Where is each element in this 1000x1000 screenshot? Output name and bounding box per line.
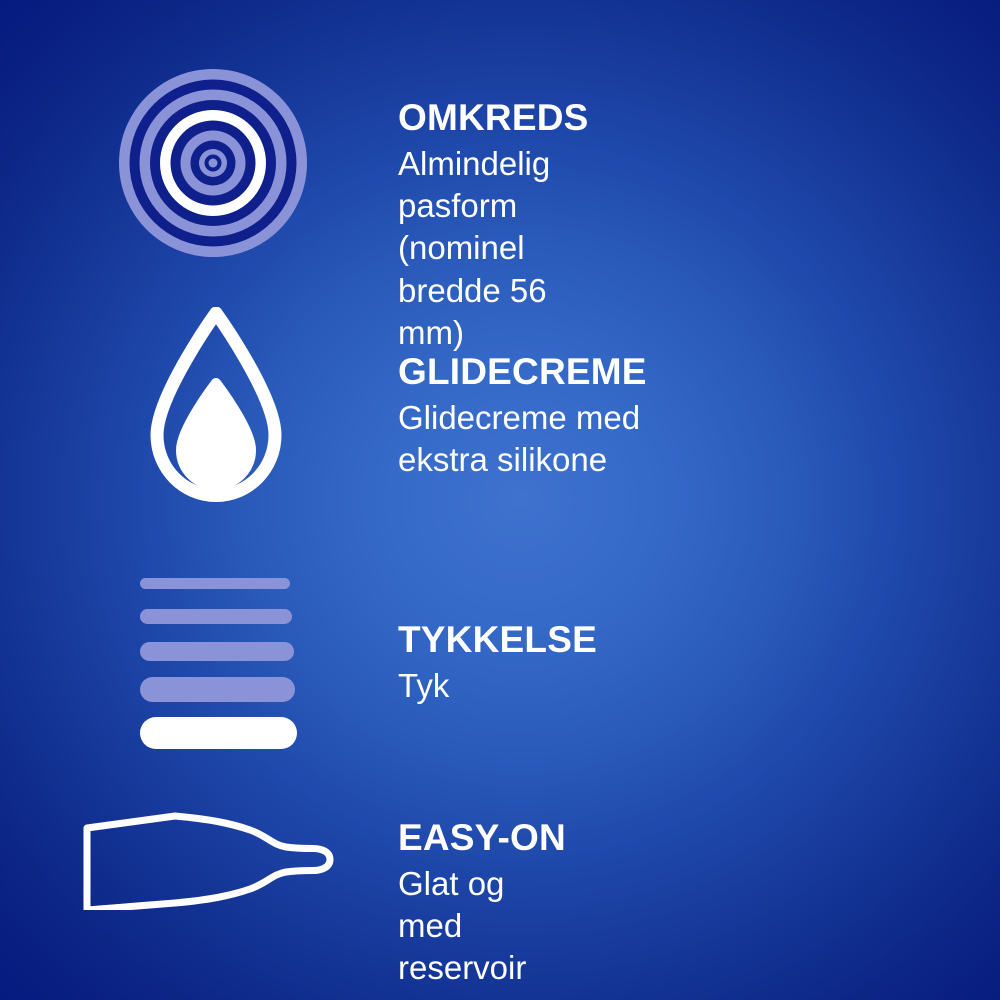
thickness-bar-3: [140, 642, 294, 661]
thickness-bar-5-active: [140, 717, 297, 749]
feature-title-omkreds: OMKREDS: [398, 98, 589, 138]
thickness-bars-icon: [140, 578, 297, 748]
feature-description-tykkelse: Tyk: [398, 665, 597, 707]
feature-description-glidecreme: Glidecreme med ekstra silikone: [398, 397, 647, 481]
thickness-bar-2: [140, 609, 292, 624]
concentric-rings-icon: [119, 69, 307, 257]
feature-poster: OMKREDS Almindelig pasform (nominel bred…: [0, 0, 1000, 1000]
feature-description-omkreds: Almindelig pasform (nominel bredde 56 mm…: [398, 143, 589, 354]
feature-text-easy-on: EASY-ON Glat og med reservoir: [398, 818, 566, 990]
feature-description-easy-on: Glat og med reservoir: [398, 863, 566, 990]
water-drop-icon: [145, 307, 287, 505]
feature-text-omkreds: OMKREDS Almindelig pasform (nominel bred…: [398, 98, 589, 354]
feature-text-glidecreme: GLIDECREME Glidecreme med ekstra silikon…: [398, 352, 647, 481]
ring-center-dot: [209, 159, 218, 168]
feature-text-tykkelse: TYKKELSE Tyk: [398, 620, 597, 707]
thickness-bar-1: [140, 578, 290, 589]
thickness-bar-4: [140, 677, 295, 702]
feature-title-glidecreme: GLIDECREME: [398, 352, 647, 392]
drop-inner-shape: [181, 383, 251, 485]
condom-outline-shape: [87, 816, 330, 910]
condom-outline-icon: [80, 812, 355, 910]
feature-title-easy-on: EASY-ON: [398, 818, 566, 858]
feature-title-tykkelse: TYKKELSE: [398, 620, 597, 660]
